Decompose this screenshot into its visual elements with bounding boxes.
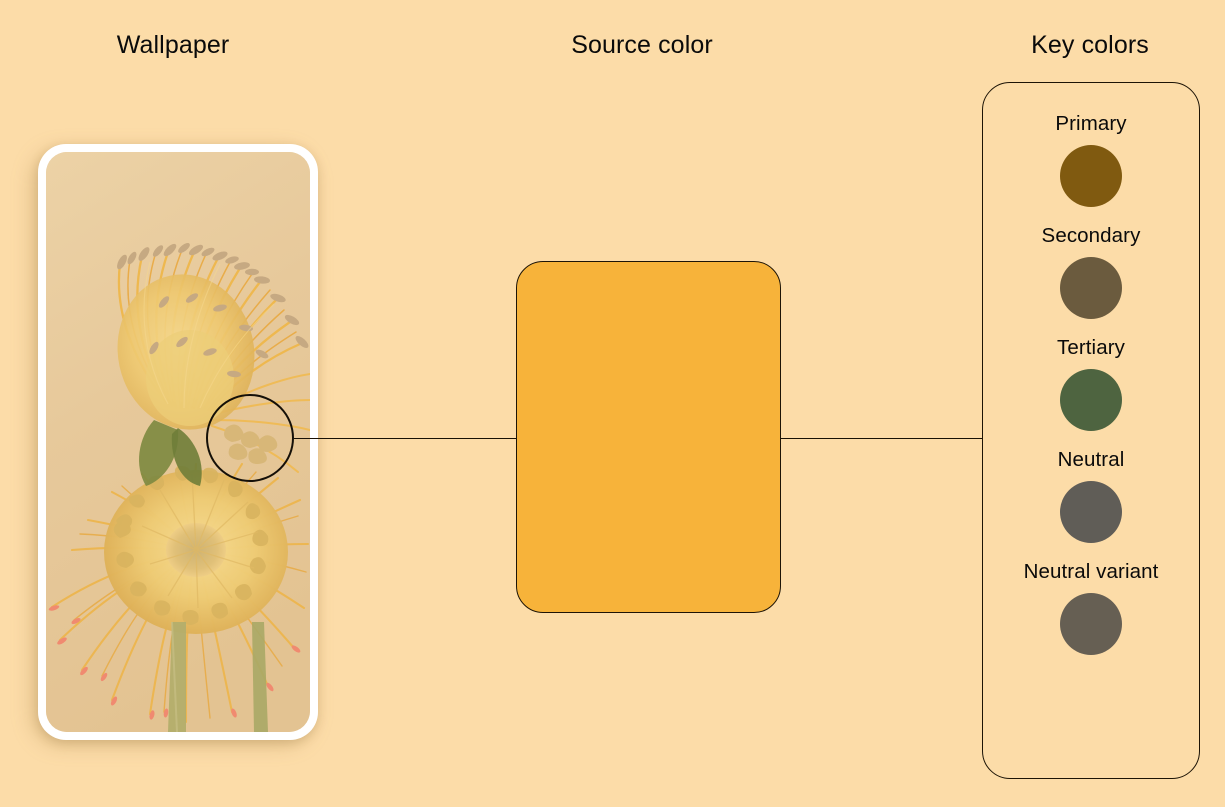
key-color-secondary: Secondary [1042,224,1141,319]
key-color-dot-secondary [1060,257,1122,319]
key-color-label: Neutral [1058,448,1125,472]
key-color-dot-primary [1060,145,1122,207]
key-color-label: Tertiary [1057,336,1125,360]
diagram-canvas: Wallpaper Source color Key colors [0,0,1225,807]
key-color-label: Primary [1055,112,1126,136]
key-color-dot-tertiary [1060,369,1122,431]
source-color-column-title: Source color [571,31,713,60]
key-colors-column-title: Key colors [1031,31,1149,60]
key-color-label: Neutral variant [1024,560,1159,584]
key-color-neutral: Neutral [1058,448,1125,543]
source-color-swatch [516,261,781,613]
key-color-dot-neutral [1060,481,1122,543]
key-color-dot-neutral-variant [1060,593,1122,655]
key-color-primary: Primary [1055,112,1126,207]
source-color-sample-circle [206,394,294,482]
connector-source-to-key-colors [781,438,983,439]
connector-wallpaper-to-source [294,438,517,439]
key-color-neutral-variant: Neutral variant [1024,560,1159,655]
key-color-label: Secondary [1042,224,1141,248]
key-colors-panel: Primary Secondary Tertiary Neutral Neutr… [982,82,1200,779]
key-color-tertiary: Tertiary [1057,336,1125,431]
wallpaper-column-title: Wallpaper [117,31,230,60]
